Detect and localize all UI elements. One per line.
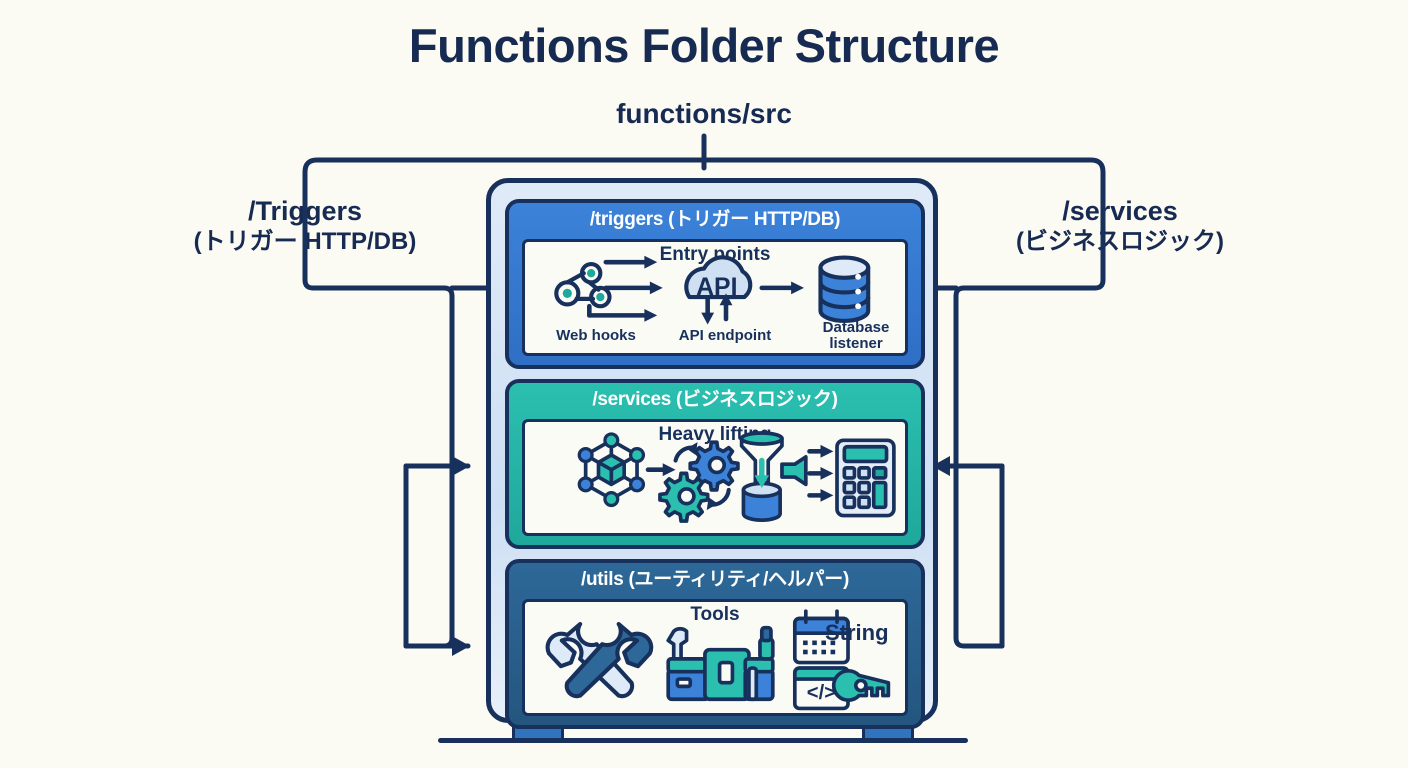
label-web-hooks: Web hooks xyxy=(531,328,661,344)
svg-text:</>: </> xyxy=(807,682,836,704)
functions-src-cabinet: /triggers (トリガー HTTP/DB) Entry points xyxy=(486,178,938,723)
label-api-endpoint: API endpoint xyxy=(655,328,795,344)
utils-artwork: </> xyxy=(525,602,905,713)
panel-triggers[interactable]: /triggers (トリガー HTTP/DB) Entry points xyxy=(505,199,925,369)
label-database-listener: Database listener xyxy=(797,320,915,352)
panel-triggers-body: Entry points xyxy=(522,239,908,356)
label-string: String xyxy=(825,620,889,646)
panel-services-body: Heavy lifting xyxy=(522,419,908,536)
panel-triggers-title: /triggers (トリガー HTTP/DB) xyxy=(509,203,921,237)
services-artwork xyxy=(525,422,905,533)
svg-text:API: API xyxy=(696,274,737,301)
panel-services-title: /services (ビジネスロジック) xyxy=(509,383,921,417)
diagram-canvas: Functions Folder Structure functions/src… xyxy=(0,0,1408,768)
panel-utils-body: Tools xyxy=(522,599,908,716)
panel-utils[interactable]: /utils (ユーティリティ/ヘルパー) Tools xyxy=(505,559,925,729)
panel-utils-title: /utils (ユーティリティ/ヘルパー) xyxy=(509,563,921,597)
panel-services[interactable]: /services (ビジネスロジック) Heavy lifting xyxy=(505,379,925,549)
ground-line xyxy=(438,738,968,743)
